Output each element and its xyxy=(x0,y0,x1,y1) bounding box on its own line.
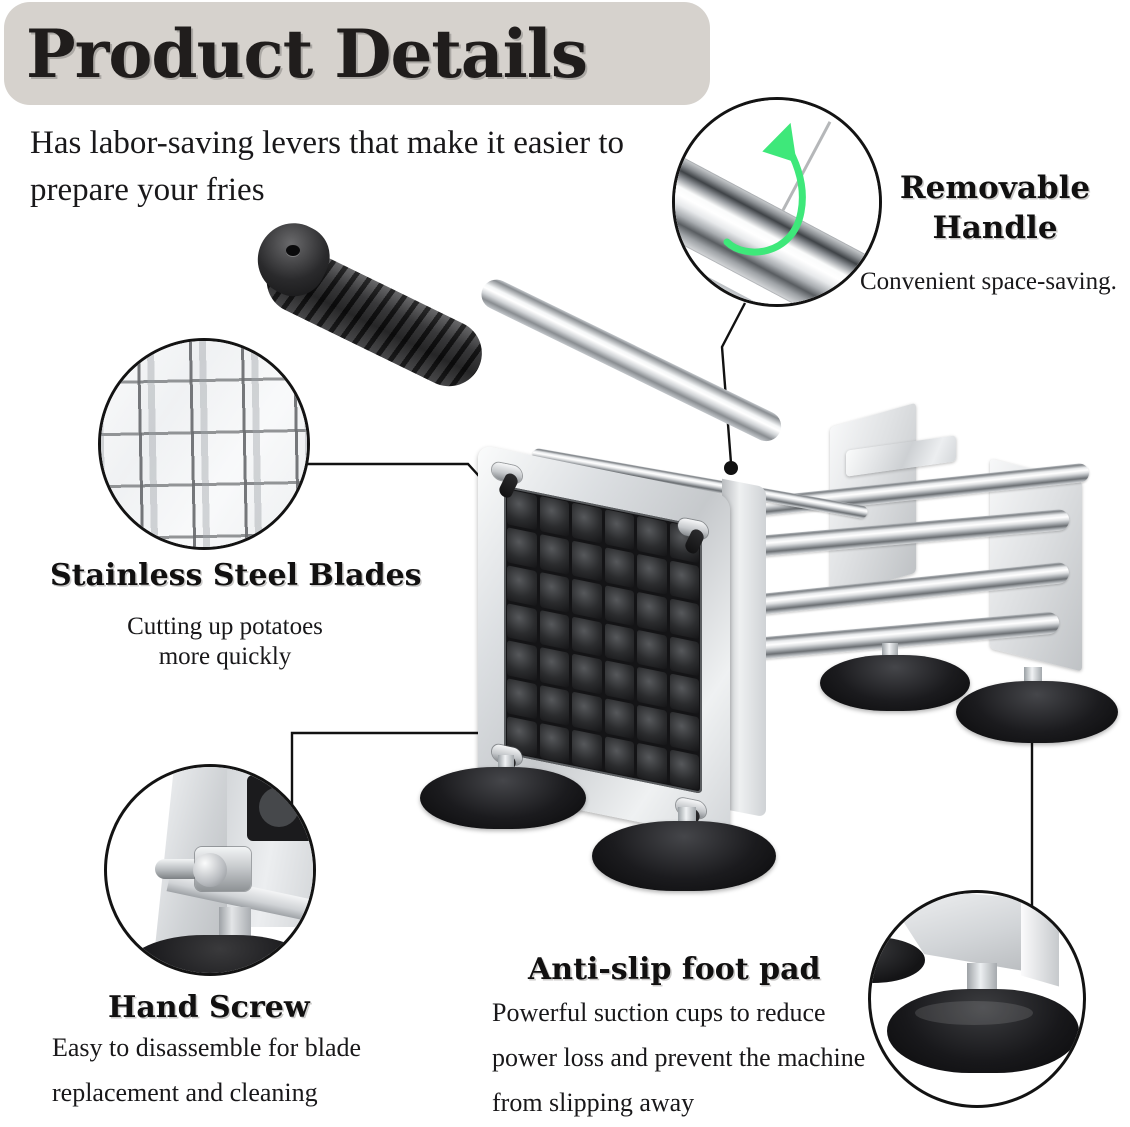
callout-body-removable-handle: Convenient space-saving. xyxy=(860,268,1117,296)
blade-cell xyxy=(605,509,635,550)
neighbor-suction-cup xyxy=(868,937,925,983)
blade-cell xyxy=(670,712,700,753)
blade-cell xyxy=(540,496,570,537)
handle-vent-hole xyxy=(286,245,300,256)
rotation-arrow-icon xyxy=(675,100,879,304)
blade-cell xyxy=(507,603,537,644)
blade-cell xyxy=(540,723,570,764)
blade-cell xyxy=(605,698,635,739)
blade-cell xyxy=(540,647,570,688)
blade-cell xyxy=(572,540,602,581)
blade-cell xyxy=(605,661,635,702)
blade-cell xyxy=(670,560,700,601)
blade-cell xyxy=(605,585,635,626)
blade-cell xyxy=(637,516,667,557)
callout-body-hand-screw-line1: Easy to disassemble for blade xyxy=(52,1033,361,1063)
blade-grid-panel xyxy=(504,486,702,794)
blade-cell xyxy=(572,616,602,657)
blade-cell xyxy=(507,679,537,720)
callout-body-stainless-steel-blades: Cutting up potatoes more quickly xyxy=(100,612,350,672)
callout-heading-anti-slip-foot-pad: Anti-slip foot pad xyxy=(528,952,821,987)
blade-cell xyxy=(572,502,602,543)
infographic-canvas: Product Details Has labor-saving levers … xyxy=(0,0,1130,1127)
callout-heading-removable-handle: Removable Handle xyxy=(890,168,1100,248)
blade-cell xyxy=(572,692,602,733)
suction-cup-back-left xyxy=(820,655,970,711)
blade-cell xyxy=(637,629,667,670)
blade-cell xyxy=(637,591,667,632)
page-title: Product Details xyxy=(26,8,696,100)
blade-cell xyxy=(637,554,667,595)
blade-cell xyxy=(507,527,537,568)
hand-screw-cap xyxy=(193,853,227,887)
callout-circle-hand-screw xyxy=(104,764,316,976)
callout-body-hand-screw-line2: replacement and cleaning xyxy=(52,1078,318,1108)
blade-cell xyxy=(507,641,537,682)
blade-mesh-closeup xyxy=(98,338,310,550)
hand-screw-blade-cell xyxy=(259,787,299,827)
page-subtitle: Has labor-saving levers that make it eas… xyxy=(30,120,630,214)
callout-circle-anti-slip-foot-pad xyxy=(868,890,1086,1108)
foot-pad-highlight xyxy=(915,1001,1033,1025)
blade-cell xyxy=(605,623,635,664)
suction-cup-front-right xyxy=(592,821,776,891)
blade-cell xyxy=(670,598,700,639)
callout-body-anti-slip-line1: Powerful suction cups to reduce xyxy=(492,998,826,1028)
blade-cell xyxy=(540,572,570,613)
suction-cup-back-right xyxy=(956,681,1118,743)
blade-cell xyxy=(670,749,700,790)
blade-cell xyxy=(572,730,602,771)
blade-cell xyxy=(540,609,570,650)
callout-body-anti-slip-line2: power loss and prevent the machine xyxy=(492,1043,865,1073)
blade-cell xyxy=(637,667,667,708)
blade-cell xyxy=(540,685,570,726)
suction-cup-front-left xyxy=(420,767,586,829)
blade-cell xyxy=(540,534,570,575)
blade-cell xyxy=(637,705,667,746)
callout-heading-stainless-steel-blades: Stainless Steel Blades xyxy=(50,558,422,593)
callout-circle-removable-handle xyxy=(672,97,882,307)
blade-cell xyxy=(605,547,635,588)
foot-pad-plate-edge xyxy=(1021,894,1059,987)
blade-cell xyxy=(605,736,635,777)
blade-cell xyxy=(572,578,602,619)
blade-cell xyxy=(572,654,602,695)
callout-circle-stainless-steel-blades xyxy=(98,338,310,550)
callout-heading-hand-screw: Hand Screw xyxy=(108,990,310,1025)
blade-cell xyxy=(670,674,700,715)
blade-cell xyxy=(637,743,667,784)
hand-screw-suction-cup xyxy=(125,935,315,976)
blade-grid xyxy=(507,489,699,790)
blade-cell xyxy=(507,565,537,606)
blade-cell xyxy=(670,636,700,677)
callout-body-anti-slip-line3: from slipping away xyxy=(492,1088,694,1118)
